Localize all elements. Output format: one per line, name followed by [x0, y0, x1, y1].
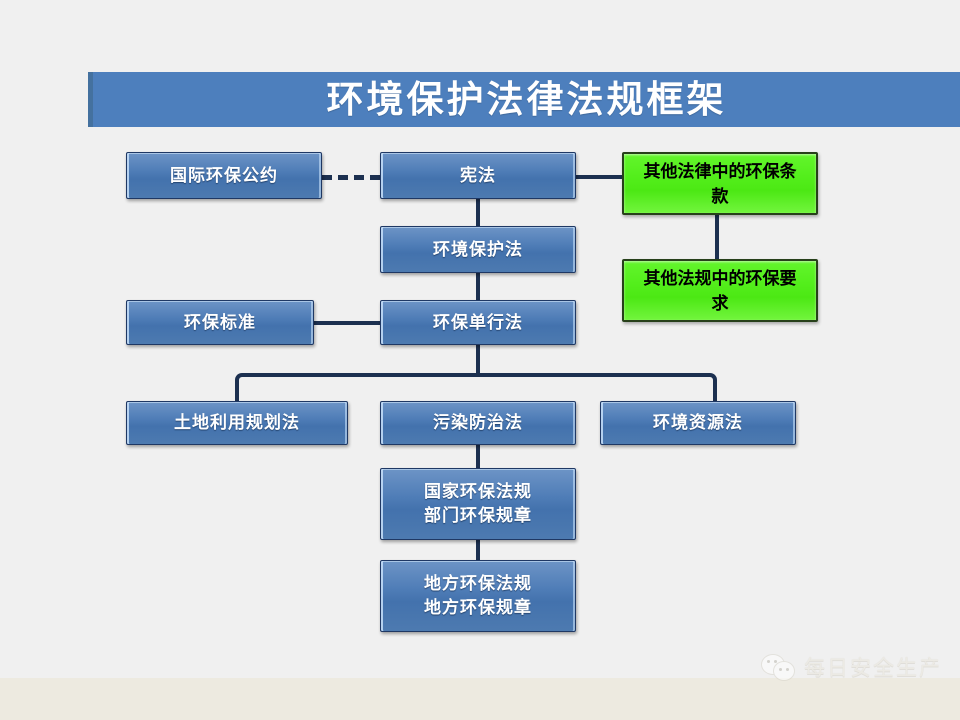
- connector-constitution-to-other-law: [576, 175, 622, 179]
- node-label-line2: 求: [712, 291, 729, 316]
- watermark: 每日安全生产: [761, 652, 942, 682]
- node-other-law-clauses[interactable]: 其他法律中的环保条 款: [622, 152, 818, 215]
- slide-canvas: 环境保护法律法规框架 国际环保公约 宪法 其他法律中的环保条 款 其他法规中的环…: [0, 0, 960, 720]
- node-label: 国际环保公约: [170, 164, 278, 188]
- wechat-dot: [767, 660, 770, 663]
- node-label-line1: 其他法规中的环保要: [644, 266, 797, 291]
- connector-epl-to-special-laws: [476, 272, 480, 301]
- connector-national-to-local: [476, 539, 480, 561]
- node-environmental-resources-law[interactable]: 环境资源法: [600, 401, 796, 445]
- wechat-bubble-small: [773, 661, 795, 681]
- node-international-convention[interactable]: 国际环保公约: [126, 152, 322, 199]
- node-pollution-control-law[interactable]: 污染防治法: [380, 401, 576, 445]
- connector-other-law-to-other-regulation: [715, 215, 719, 259]
- node-land-use-planning-law[interactable]: 土地利用规划法: [126, 401, 348, 445]
- node-label-line1: 地方环保法规: [424, 572, 532, 596]
- node-label: 土地利用规划法: [174, 411, 300, 435]
- node-label: 环保标准: [184, 311, 256, 335]
- page-title: 环境保护法律法规框架: [327, 81, 727, 118]
- footer-band: [0, 678, 960, 720]
- node-other-regulation-requirements[interactable]: 其他法规中的环保要 求: [622, 259, 818, 322]
- connector-constitution-to-epl: [476, 199, 480, 227]
- node-special-environmental-laws[interactable]: 环保单行法: [380, 300, 576, 345]
- wechat-icon: [761, 652, 795, 682]
- node-label: 环保单行法: [433, 311, 523, 335]
- connector-pollution-to-national: [476, 444, 480, 469]
- connector-standards-to-special-laws: [314, 321, 380, 325]
- node-constitution[interactable]: 宪法: [380, 152, 576, 199]
- node-label: 污染防治法: [433, 411, 523, 435]
- node-environmental-protection-law[interactable]: 环境保护法: [380, 226, 576, 273]
- connector-bracket-three-children: [235, 373, 717, 401]
- connector-special-laws-stem: [476, 345, 480, 375]
- node-national-regulations[interactable]: 国家环保法规 部门环保规章: [380, 468, 576, 540]
- node-local-regulations[interactable]: 地方环保法规 地方环保规章: [380, 560, 576, 632]
- node-label-line2: 款: [712, 184, 729, 209]
- node-label: 环境资源法: [653, 411, 743, 435]
- node-label-line1: 国家环保法规: [424, 480, 532, 504]
- node-label-line2: 部门环保规章: [424, 504, 532, 528]
- node-label-line2: 地方环保规章: [424, 596, 532, 620]
- wechat-dot: [786, 668, 789, 671]
- wechat-dot: [779, 668, 782, 671]
- node-label-line1: 其他法律中的环保条: [644, 159, 797, 184]
- wechat-dot: [774, 660, 777, 663]
- node-label: 环境保护法: [433, 238, 523, 262]
- node-label: 宪法: [460, 164, 496, 188]
- watermark-text: 每日安全生产: [804, 652, 942, 682]
- connector-convention-to-constitution: [322, 175, 380, 180]
- slide-title-bar: 环境保护法律法规框架: [88, 72, 960, 127]
- node-environmental-standards[interactable]: 环保标准: [126, 300, 314, 345]
